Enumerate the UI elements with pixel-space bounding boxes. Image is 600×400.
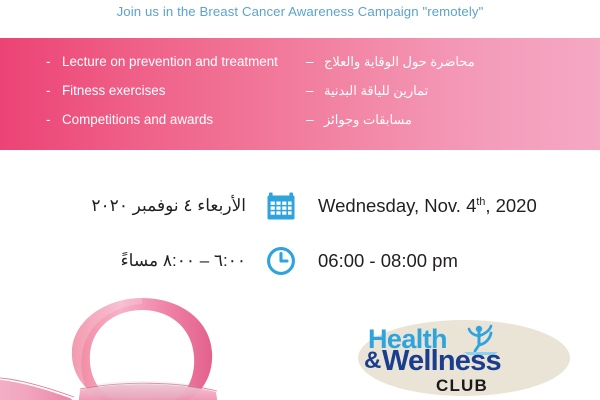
list-item-label: Competitions and awards [62,112,213,127]
activity-list-arabic: محاضرة حول الوقاية والعلاج – تمارين لليا… [306,54,566,141]
event-date-ordinal: th [476,196,485,208]
event-time-english: 06:00 - 08:00 pm [304,250,600,272]
event-date-suffix: , 2020 [485,195,536,216]
list-item: - Lecture on prevention and treatment [46,54,346,83]
list-item-label: مسابقات وجوائز [324,112,412,128]
activity-list-english: - Lecture on prevention and treatment - … [46,54,346,141]
page-title: Join us in the Breast Cancer Awareness C… [0,4,600,19]
event-time-row: ٦:٠٠ – ٨:٠٠ مساءً 06:00 - 08:00 pm [0,239,600,283]
list-item-label: Lecture on prevention and treatment [62,54,278,69]
list-item: محاضرة حول الوقاية والعلاج – [306,54,566,83]
health-and-wellness-club-logo: Health & Wellness CLUB [356,318,574,400]
event-date-english: Wednesday, Nov. 4th, 2020 [304,195,600,217]
list-item: - Fitness exercises [46,83,346,112]
logo-word-wellness: Wellness [382,345,501,378]
bullet-dash-icon: – [306,112,324,127]
event-date-prefix: Wednesday, Nov. 4 [318,195,476,216]
event-date-row: الأربعاء ٤ نوفمبر ٢٠٢٠ [0,184,600,228]
bullet-dash-icon: - [46,83,62,98]
list-item-label: محاضرة حول الوقاية والعلاج [324,54,475,70]
poster-canvas: Join us in the Breast Cancer Awareness C… [0,0,600,400]
logo-word-club: CLUB [436,376,488,396]
list-item: تمارين للياقة البدنية – [306,83,566,112]
list-item-label: تمارين للياقة البدنية [324,83,428,99]
bullet-dash-icon: - [46,112,62,127]
list-item-label: Fitness exercises [62,83,165,98]
bullet-dash-icon: – [306,83,324,98]
logo-word-ampersand: & [364,347,381,375]
bullet-dash-icon: - [46,54,62,69]
pink-awareness-ribbon [0,286,290,400]
list-item: - Competitions and awards [46,112,346,141]
logo-wordmark: Health & Wellness CLUB [356,318,574,400]
event-time-arabic: ٦:٠٠ – ٨:٠٠ مساءً [0,251,258,271]
clock-icon [258,246,304,276]
calendar-icon [258,191,304,221]
list-item: مسابقات وجوائز – [306,112,566,141]
bullet-dash-icon: – [306,54,324,69]
event-date-arabic: الأربعاء ٤ نوفمبر ٢٠٢٠ [0,196,258,216]
